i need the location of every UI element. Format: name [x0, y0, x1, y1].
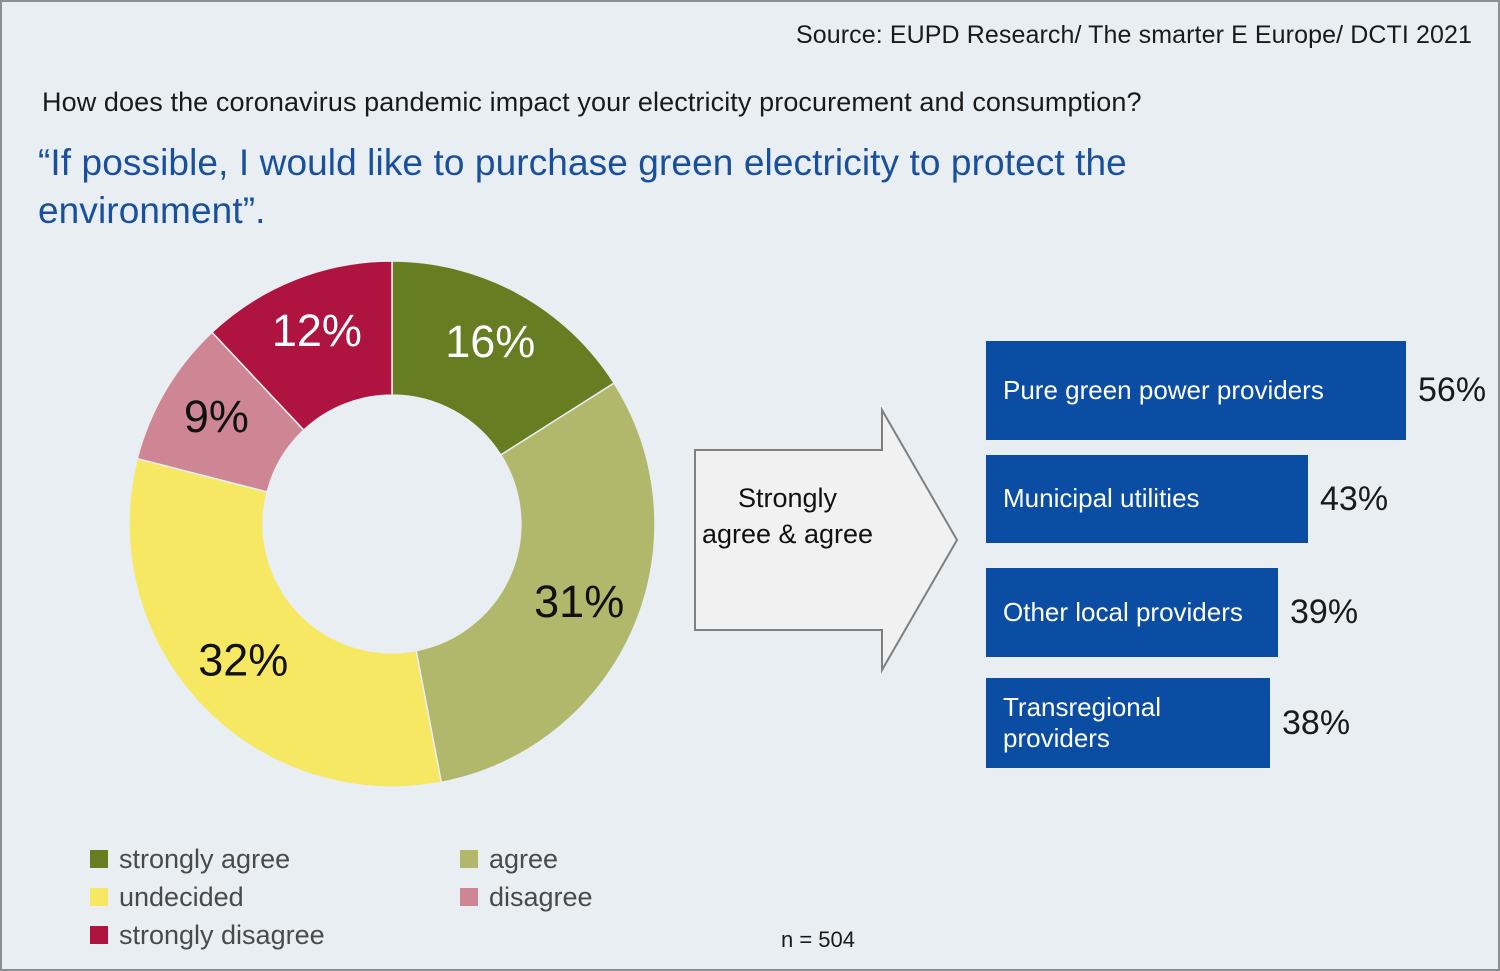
page-title: “If possible, I would like to purchase g…	[38, 139, 1348, 234]
legend-item[interactable]: agree	[460, 844, 710, 875]
chart-legend: strongly agreeagreeundecideddisagreestro…	[90, 840, 710, 954]
bar-category-label: Other local providers	[986, 597, 1251, 628]
bar-value-label: 38%	[1282, 704, 1350, 743]
legend-swatch-icon	[460, 850, 478, 868]
slide-canvas: Source: EUPD Research/ The smarter E Eur…	[0, 0, 1500, 971]
legend-item[interactable]: disagree	[460, 882, 710, 913]
legend-swatch-icon	[460, 888, 478, 906]
donut-slices	[129, 261, 655, 787]
bar: Municipal utilities	[985, 454, 1309, 544]
legend-label: strongly disagree	[119, 920, 325, 951]
bar-row: Pure green power providers56%	[985, 340, 1486, 441]
bar: Transregional providers	[985, 677, 1271, 769]
bar-value-label: 56%	[1418, 371, 1486, 410]
bar-category-label: Pure green power providers	[986, 375, 1332, 406]
flow-arrow: Strongly agree & agree	[692, 407, 960, 679]
legend-swatch-icon	[90, 888, 108, 906]
bar-value-label: 39%	[1290, 593, 1358, 632]
legend-item[interactable]: strongly disagree	[90, 920, 460, 951]
legend-label: undecided	[119, 882, 244, 913]
donut-slice-value: 12%	[272, 305, 362, 356]
legend-item[interactable]: undecided	[90, 882, 460, 913]
legend-swatch-icon	[90, 850, 108, 868]
donut-slice	[129, 459, 441, 787]
bar-row: Municipal utilities43%	[985, 454, 1388, 544]
bar-value-label: 43%	[1320, 480, 1388, 519]
sample-size: n = 504	[781, 927, 855, 953]
legend-item[interactable]: strongly agree	[90, 844, 460, 875]
legend-label: agree	[489, 844, 558, 875]
legend-swatch-icon	[90, 926, 108, 944]
legend-label: strongly agree	[119, 844, 290, 875]
donut-chart-svg: 16%31%32%9%12%	[127, 259, 657, 789]
bar-row: Other local providers39%	[985, 567, 1358, 658]
bar-chart: Pure green power providers56%Municipal u…	[985, 340, 1485, 780]
bar: Other local providers	[985, 567, 1279, 658]
bar-category-label: Transregional providers	[986, 692, 1270, 754]
legend-label: disagree	[489, 882, 593, 913]
donut-slice-value: 9%	[184, 391, 249, 442]
bar-row: Transregional providers38%	[985, 677, 1350, 769]
bar-category-label: Municipal utilities	[986, 483, 1208, 514]
source-attribution: Source: EUPD Research/ The smarter E Eur…	[796, 21, 1472, 50]
bar: Pure green power providers	[985, 340, 1407, 441]
survey-question: How does the coronavirus pandemic impact…	[42, 87, 1142, 118]
donut-chart: 16%31%32%9%12%	[127, 259, 657, 789]
donut-slice-value: 16%	[445, 316, 535, 367]
donut-slice-value: 31%	[534, 576, 624, 627]
donut-slice-value: 32%	[198, 635, 288, 686]
arrow-label: Strongly agree & agree	[700, 481, 875, 552]
